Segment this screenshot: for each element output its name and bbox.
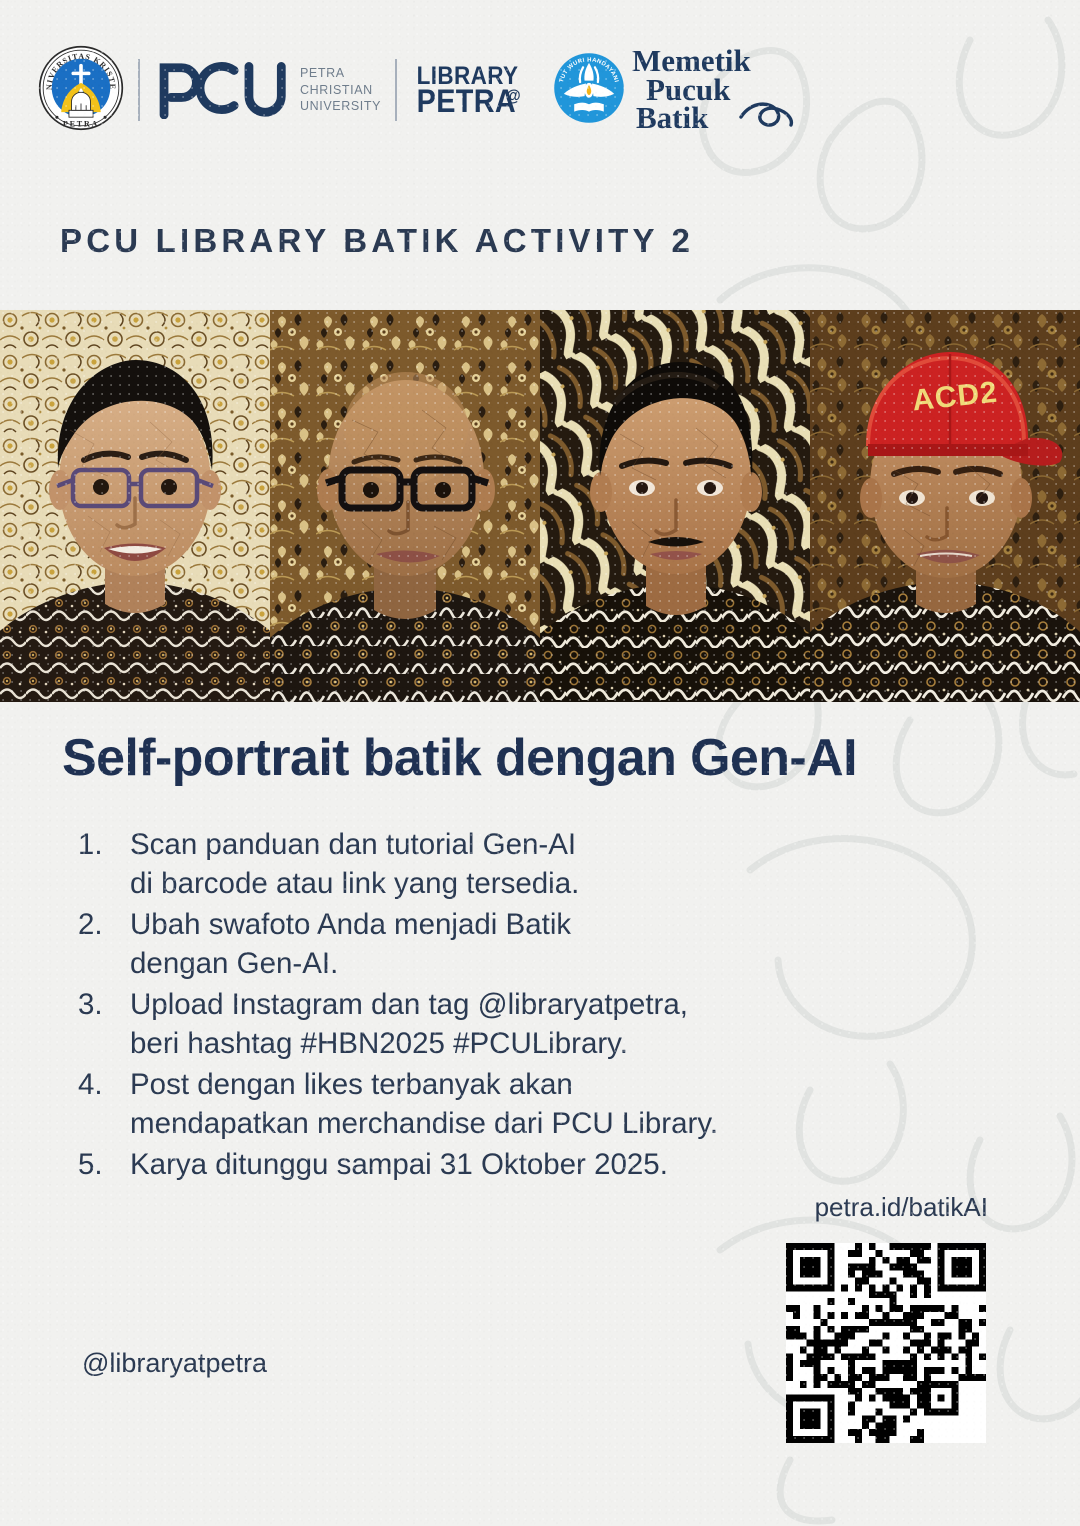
qr-code[interactable] <box>786 1243 986 1443</box>
pcu-seal-icon: UNIVERSITAS KRISTEN PETRA <box>38 45 124 136</box>
list-item-line2: beri hashtag #HBN2025 #PCULibrary. <box>130 1025 838 1064</box>
list-item-number: 5. <box>78 1146 130 1185</box>
list-item-number: 2. <box>78 906 130 984</box>
list-item-text: Scan panduan dan tutorial Gen-AI di barc… <box>130 826 838 904</box>
list-item-number: 4. <box>78 1066 130 1144</box>
pcu-word-line3: UNIVERSITY <box>300 98 381 115</box>
page-headline: Self-portrait batik dengan Gen-AI <box>62 728 857 788</box>
library-petra-logo: LIBRARY PETRA @ <box>417 65 519 115</box>
memetik-flourish-icon <box>737 97 795 131</box>
list-item: 1. Scan panduan dan tutorial Gen-AI di b… <box>78 826 838 904</box>
list-item-text: Post dengan likes terbanyak akan mendapa… <box>130 1066 838 1144</box>
list-item-number: 3. <box>78 986 130 1064</box>
list-item-number: 1. <box>78 826 130 904</box>
pcu-wordmark: PETRA CHRISTIAN UNIVERSITY <box>300 65 381 115</box>
instagram-handle: @libraryatpetra <box>82 1348 267 1379</box>
list-item-line1: Ubah swafoto Anda menjadi Batik <box>130 908 571 941</box>
library-petra-line2: PETRA <box>417 87 519 115</box>
list-item: 5. Karya ditunggu sampai 31 Oktober 2025… <box>78 1146 838 1185</box>
pcu-monogram-icon <box>154 57 290 124</box>
poster-canvas: UNIVERSITAS KRISTEN PETRA PETRA CHRISTIA… <box>0 0 1080 1526</box>
memetik-line3: Batik <box>632 104 751 133</box>
portrait-image-1 <box>0 310 270 702</box>
list-item-line2: di barcode atau link yang tersedia. <box>130 865 838 904</box>
pcu-word-line1: PETRA <box>300 65 381 82</box>
portrait-gallery: ACD2 <box>0 310 1080 702</box>
pcu-word-line2: CHRISTIAN <box>300 82 381 99</box>
at-symbol-icon: @ <box>506 89 521 104</box>
portrait-image-4: ACD2 <box>810 310 1080 702</box>
page-kicker-title: PCU LIBRARY BATIK ACTIVITY 2 <box>60 222 694 260</box>
tut-wuri-handayani-icon: TUT WURI HANDAYANI <box>552 51 626 130</box>
list-item-line1: Post dengan likes terbanyak akan <box>130 1068 573 1101</box>
portrait-image-2 <box>270 310 540 702</box>
list-item-line1: Upload Instagram dan tag @libraryatpetra… <box>130 988 688 1021</box>
logo-divider <box>138 59 140 121</box>
qr-url-label: petra.id/batikAI <box>815 1192 988 1223</box>
list-item: 4. Post dengan likes terbanyak akan mend… <box>78 1066 838 1144</box>
list-item: 3. Upload Instagram dan tag @libraryatpe… <box>78 986 838 1064</box>
instruction-list: 1. Scan panduan dan tutorial Gen-AI di b… <box>78 826 838 1186</box>
portrait-image-3 <box>540 310 810 702</box>
header-logo-bar: UNIVERSITAS KRISTEN PETRA PETRA CHRISTIA… <box>38 42 751 138</box>
memetik-pucuk-batik-logo: Memetik Pucuk Batik <box>632 47 751 133</box>
list-item: 2. Ubah swafoto Anda menjadi Batik denga… <box>78 906 838 984</box>
list-item-text: Karya ditunggu sampai 31 Oktober 2025. <box>130 1146 838 1185</box>
list-item-line2: dengan Gen-AI. <box>130 945 838 984</box>
list-item-text: Ubah swafoto Anda menjadi Batik dengan G… <box>130 906 838 984</box>
qr-code-image <box>786 1243 986 1443</box>
list-item-line1: Karya ditunggu sampai 31 Oktober 2025. <box>130 1148 668 1181</box>
list-item-text: Upload Instagram dan tag @libraryatpetra… <box>130 986 838 1064</box>
logo-divider <box>395 59 397 121</box>
svg-text:PETRA: PETRA <box>63 119 99 128</box>
list-item-line1: Scan panduan dan tutorial Gen-AI <box>130 828 576 861</box>
list-item-line2: mendapatkan merchandise dari PCU Library… <box>130 1105 838 1144</box>
